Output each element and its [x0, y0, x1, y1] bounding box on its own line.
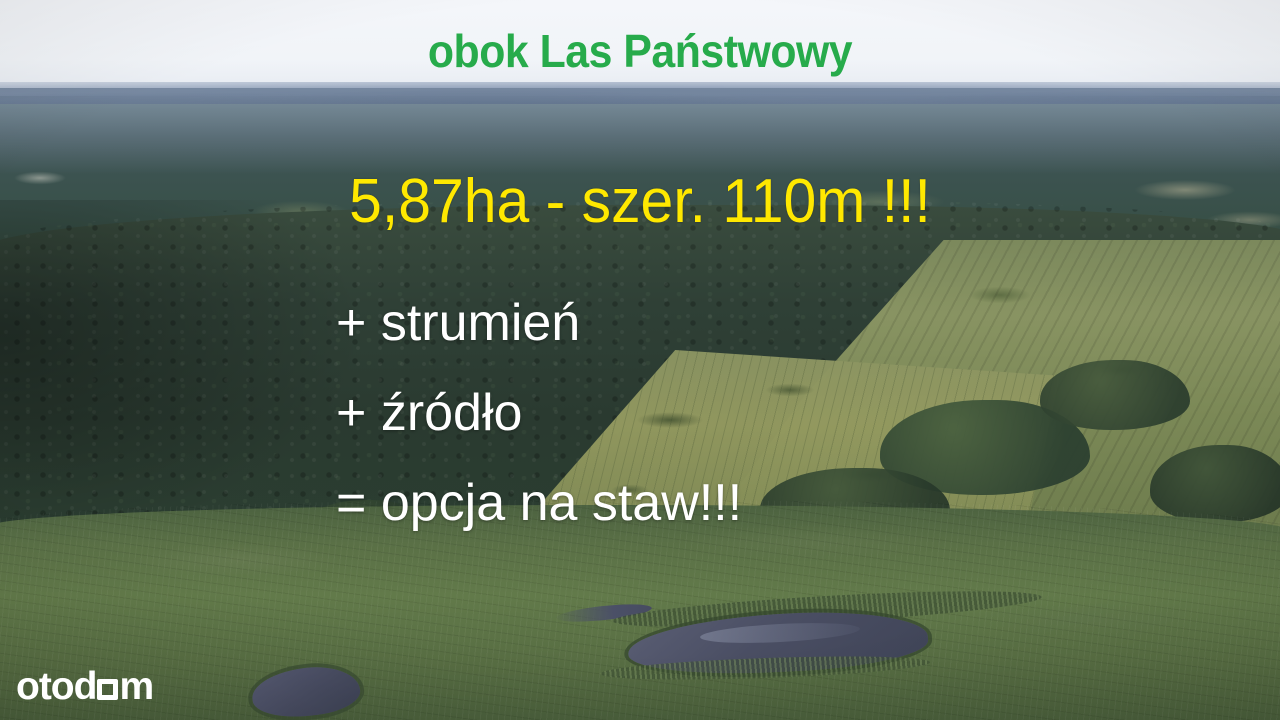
otodom-wordmark: otodm — [16, 667, 153, 706]
reed-bank-upper — [612, 584, 1043, 634]
pond-main — [627, 606, 930, 680]
area-and-width-text: 5,87ha - szer. 110m !!! — [32, 166, 1248, 237]
tree-clump — [1040, 360, 1190, 430]
tree-clump — [880, 400, 1090, 495]
distant-ridge — [0, 82, 1280, 118]
pond-highlight — [700, 620, 861, 646]
stream-channel — [556, 601, 653, 625]
feature-line-pond-option: = opcja na staw!!! — [336, 458, 742, 548]
reed-bank-lower — [600, 652, 930, 684]
tree-clump — [760, 468, 950, 540]
pond-small — [250, 662, 362, 720]
otodom-wordmark-part-1: otod — [16, 665, 96, 708]
otodom-square-glyph-icon — [97, 679, 118, 700]
feature-list: + strumień + źródło = opcja na staw!!! — [336, 278, 742, 548]
feature-line-spring: + źródło — [336, 368, 742, 458]
listing-photo-stage: obok Las Państwowy 5,87ha - szer. 110m !… — [0, 0, 1280, 720]
headline-text: obok Las Państwowy — [45, 24, 1235, 78]
distant-ridge-detail — [0, 88, 1280, 114]
tree-clump — [1120, 600, 1280, 720]
atmospheric-haze — [0, 104, 1280, 174]
otodom-wordmark-part-2: m — [119, 665, 153, 708]
meadow-texture-right — [700, 240, 1280, 540]
feature-line-stream: + strumień — [336, 278, 742, 368]
otodom-logo: otodm — [16, 666, 153, 706]
meadow-field-right — [700, 240, 1280, 540]
tree-clump — [1150, 445, 1280, 523]
